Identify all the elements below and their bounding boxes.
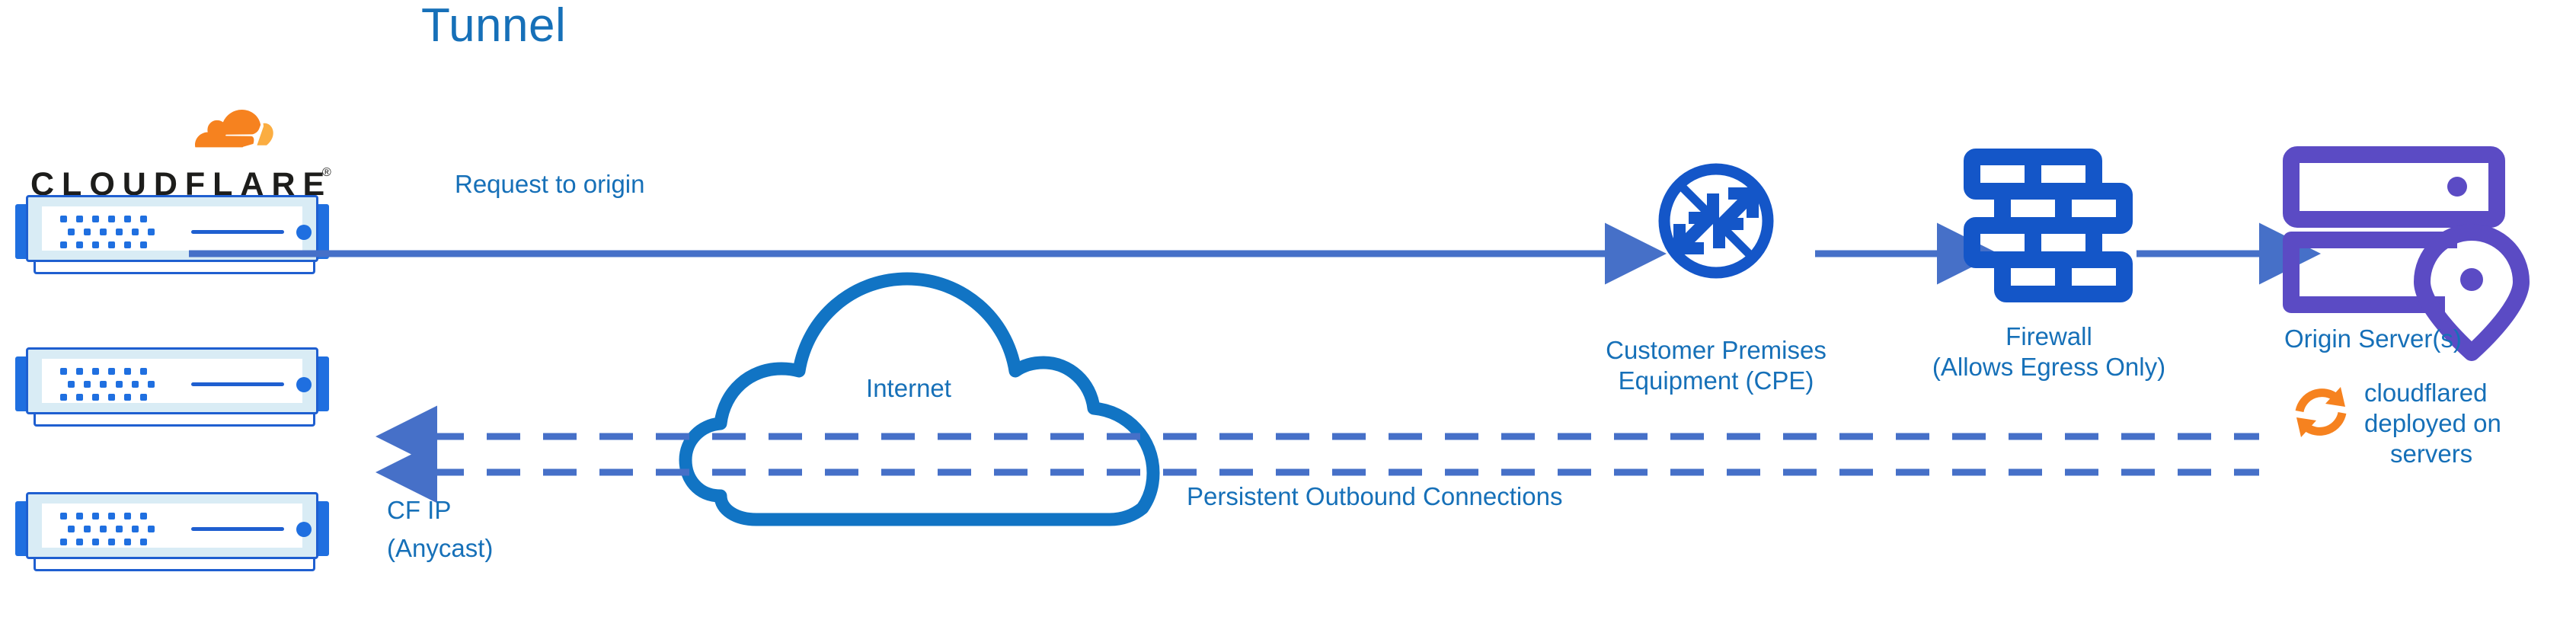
- firewall-label-line2: (Allows Egress Only): [1889, 352, 2209, 382]
- request-to-origin-label: Request to origin: [455, 169, 644, 200]
- cpe-label-line2: Equipment (CPE): [1545, 366, 1887, 396]
- cpe-label-line1: Customer Premises: [1545, 335, 1887, 366]
- cf-ip-label-line2: (Anycast): [387, 533, 493, 564]
- origin-server-label: Origin Server(s): [2284, 324, 2462, 354]
- diagram-canvas: Tunnel CLOUDFLARE ®: [0, 0, 2576, 617]
- cloudflared-label-line3: servers: [2390, 439, 2472, 469]
- cf-ip-label-line1: CF IP: [387, 495, 451, 526]
- sync-arrows-icon: [2296, 387, 2345, 437]
- server-stack-pin-icon: [2291, 155, 2521, 353]
- router-four-arrows-icon: [1664, 157, 1768, 273]
- firewall-label-line1: Firewall: [1889, 321, 2209, 352]
- brick-wall-icon: [1972, 157, 2124, 294]
- cloudflared-label-line1: cloudflared: [2364, 378, 2487, 408]
- persistent-outbound-connections-label: Persistent Outbound Connections: [1187, 481, 1562, 512]
- cloudflared-label-line2: deployed on: [2364, 408, 2501, 439]
- internet-label: Internet: [863, 373, 954, 404]
